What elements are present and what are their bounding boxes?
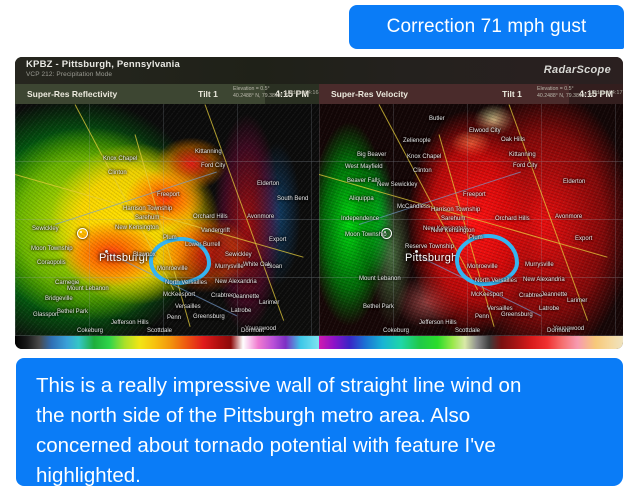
color-scale-reflectivity xyxy=(15,336,319,349)
city-dot-pittsburgh xyxy=(415,250,418,253)
highlight-circle-annotation xyxy=(455,234,519,286)
tilt-selector-left[interactable]: Tilt 1 xyxy=(187,89,229,99)
radar-site-marker xyxy=(381,228,392,239)
message-line: concerned about tornado potential with f… xyxy=(36,431,605,461)
coordinates-label-right: 40.2488° N, 79.3819° W xyxy=(537,93,593,99)
map-pane-velocity[interactable]: Pittsburgh ButlerElwood CityOak HillsKit… xyxy=(319,104,623,336)
product-name-velocity: Super-Res Velocity xyxy=(319,89,491,99)
radar-vcp-mode: VCP 212: Precipitation Mode xyxy=(26,71,112,78)
tilt-selector-right[interactable]: Tilt 1 xyxy=(491,89,533,99)
county-boundary-overlay-right xyxy=(319,104,623,336)
product-bar-reflectivity[interactable]: Super-Res Reflectivity Tilt 1 Elevation … xyxy=(15,84,319,104)
sent-message-top-text: Correction 71 mph gust xyxy=(387,16,587,38)
message-line: the north side of the Pittsburgh metro a… xyxy=(36,401,605,431)
radar-site-marker xyxy=(77,228,88,239)
meta-block-left: Elevation = 0.5° 40.2488° N, 79.3819° W … xyxy=(229,84,265,104)
product-bar-row: Super-Res Reflectivity Tilt 1 Elevation … xyxy=(15,84,623,104)
city-dot-pittsburgh xyxy=(105,250,108,253)
sent-message-bubble-top[interactable]: Correction 71 mph gust xyxy=(349,5,624,49)
coordinates-label-left: 40.2488° N, 79.3819° W xyxy=(233,93,289,99)
product-bar-velocity[interactable]: Super-Res Velocity Tilt 1 Elevation = 0.… xyxy=(319,84,623,104)
radar-map-row: Pittsburgh KittanningFord CityKnox Chape… xyxy=(15,104,623,336)
color-scale-velocity xyxy=(319,336,623,349)
map-pane-reflectivity[interactable]: Pittsburgh KittanningFord CityKnox Chape… xyxy=(15,104,319,336)
updated-label-right: Updated 4:17 PM xyxy=(589,90,623,96)
county-boundary-overlay-left xyxy=(15,104,319,336)
radarscope-brand-logo: RadarScope xyxy=(544,64,611,76)
message-line: highlighted. xyxy=(36,461,605,491)
highlight-circle-annotation xyxy=(149,237,211,285)
radar-image-attachment[interactable]: KPBZ - Pittsburgh, Pennsylvania VCP 212:… xyxy=(15,57,623,349)
message-line: This is a really impressive wall of stra… xyxy=(36,371,605,401)
sent-message-bubble-bottom[interactable]: This is a really impressive wall of stra… xyxy=(16,358,623,486)
elevation-label-right: Elevation = 0.5° xyxy=(537,86,574,92)
radar-site-title: KPBZ - Pittsburgh, Pennsylvania xyxy=(26,59,180,70)
color-scale-bar xyxy=(15,336,623,349)
radar-header: KPBZ - Pittsburgh, Pennsylvania VCP 212:… xyxy=(15,57,623,84)
meta-block-right: Elevation = 0.5° 40.2488° N, 79.3819° W … xyxy=(533,84,569,104)
elevation-label-left: Elevation = 0.5° xyxy=(233,86,270,92)
product-name-reflectivity: Super-Res Reflectivity xyxy=(15,89,187,99)
